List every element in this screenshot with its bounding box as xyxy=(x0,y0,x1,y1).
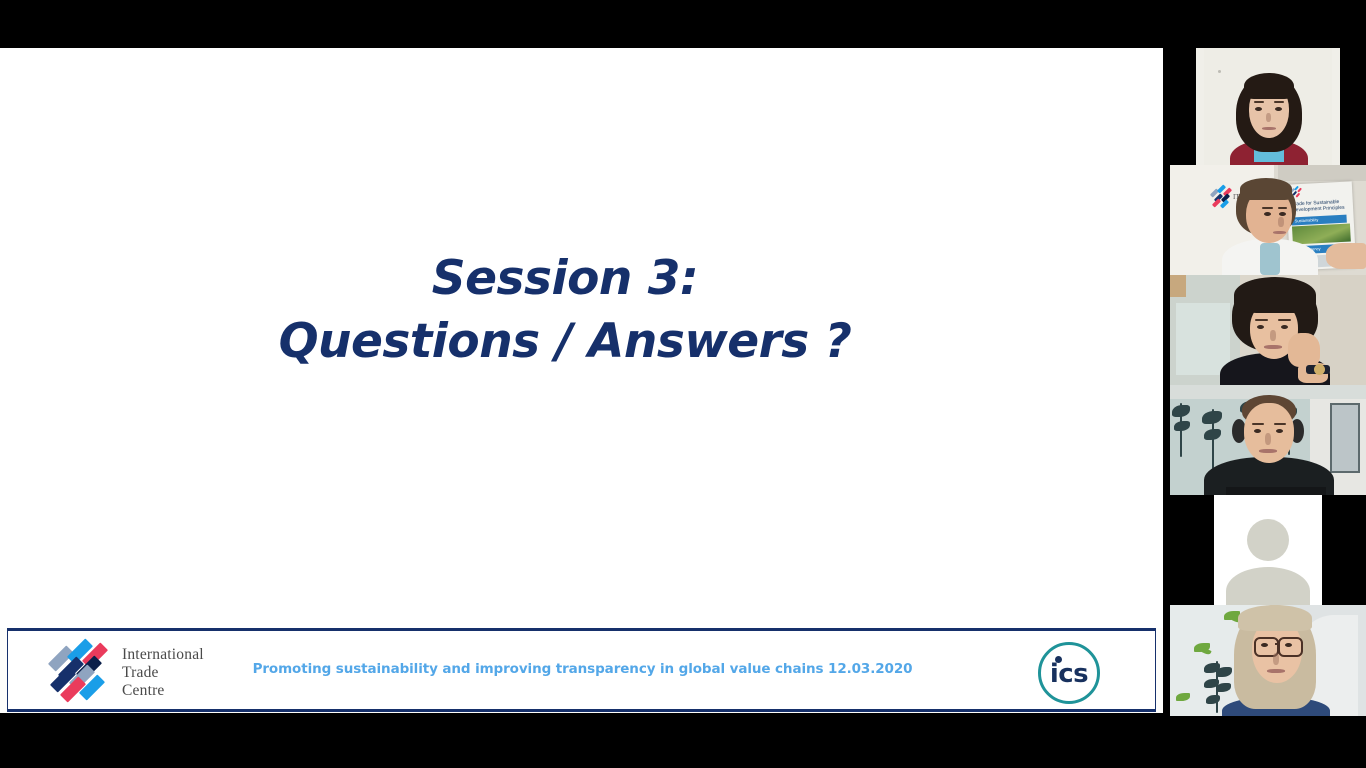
ics-logo-text: ics xyxy=(1041,659,1097,689)
slide-footer-bar: International Trade Centre Promoting sus… xyxy=(7,628,1156,712)
slide-content-area: Session 3: Questions / Answers ? xyxy=(0,48,1163,628)
avatar-placeholder xyxy=(1214,495,1322,605)
avatar-head-icon xyxy=(1247,519,1289,561)
participant-video-tile-5[interactable] xyxy=(1170,495,1366,605)
participant-6-video xyxy=(1170,605,1366,716)
participant-video-tile-6[interactable] xyxy=(1170,605,1366,716)
meeting-window: Session 3: Questions / Answers ? xyxy=(0,0,1366,768)
letterbox-left xyxy=(1170,48,1196,165)
itc-logo-line-3: Centre xyxy=(122,682,204,700)
slide-title-line-2: Questions / Answers ? xyxy=(0,310,1130,374)
ics-logo: ics xyxy=(1038,642,1100,704)
eyeglasses-right-icon xyxy=(1278,637,1303,657)
letterbox-right xyxy=(1322,495,1366,605)
letterbox-right xyxy=(1340,48,1366,165)
participant-4-video xyxy=(1170,385,1366,495)
participant-video-tile-2[interactable]: ITC Trade for Sustainable Development Pr… xyxy=(1170,165,1366,275)
participant-video-strip[interactable]: ITC Trade for Sustainable Development Pr… xyxy=(1170,48,1366,716)
letterbox-left xyxy=(1170,495,1214,605)
participant-2-video: ITC Trade for Sustainable Development Pr… xyxy=(1170,165,1366,275)
avatar-body-icon xyxy=(1226,567,1310,605)
slide-title-line-1: Session 3: xyxy=(0,248,1130,310)
participant-video-tile-1[interactable] xyxy=(1170,48,1366,165)
participant-1-video xyxy=(1170,48,1366,165)
shared-screen-slide: Session 3: Questions / Answers ? xyxy=(0,48,1163,713)
participant-video-tile-3[interactable] xyxy=(1170,275,1366,385)
itc-wall-logo-icon xyxy=(1210,187,1232,207)
participant-video-tile-4[interactable] xyxy=(1170,385,1366,495)
brochure-title: Trade for Sustainable Development Princi… xyxy=(1292,199,1349,214)
slide-title: Session 3: Questions / Answers ? xyxy=(0,248,1130,374)
participant-3-video xyxy=(1170,275,1366,385)
footer-tagline: Promoting sustainability and improving t… xyxy=(8,661,1157,677)
